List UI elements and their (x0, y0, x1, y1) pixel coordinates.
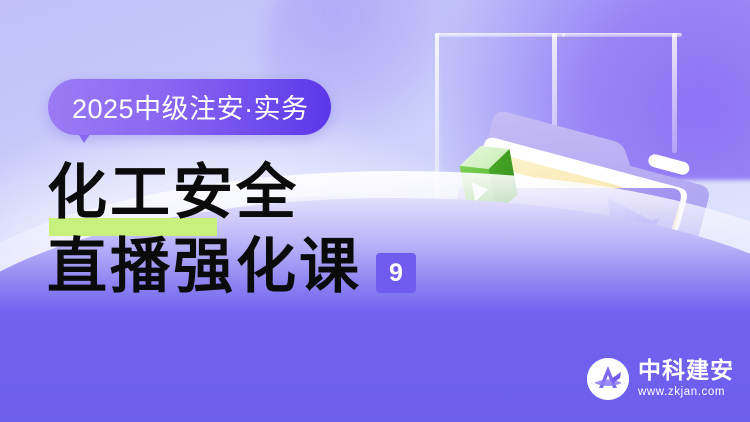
brand-url: www.zkjan.com (638, 387, 734, 399)
headline-line-2: 直播强化课 (47, 232, 362, 302)
frame-line-top-left (435, 33, 565, 37)
episode-number: 9 (389, 261, 403, 286)
brand-name: 中科建安 (638, 360, 734, 383)
headline-line-2-row: 直播强化课 9 (47, 230, 467, 302)
mountain-peak-circle-icon (587, 358, 629, 400)
brand-logo[interactable]: 中科建安 www.zkjan.com (587, 358, 734, 400)
pill-label: 2025中级注安·实务 (72, 87, 309, 126)
headline-line-1-row: 化工安全 (47, 158, 467, 230)
frame-line-top-right (562, 33, 682, 37)
logo-mark-svg (587, 358, 629, 400)
logo-text-block: 中科建安 www.zkjan.com (638, 360, 734, 399)
course-category-pill[interactable]: 2025中级注安·实务 (48, 79, 331, 135)
course-promo-poster: 2025中级注安·实务 化工安全 直播强化课 9 中科建安 www.zkjan.… (0, 0, 750, 422)
headline-block: 化工安全 直播强化课 9 (47, 158, 467, 302)
episode-number-badge: 9 (376, 253, 416, 293)
headline-line-1: 化工安全 (47, 158, 467, 228)
